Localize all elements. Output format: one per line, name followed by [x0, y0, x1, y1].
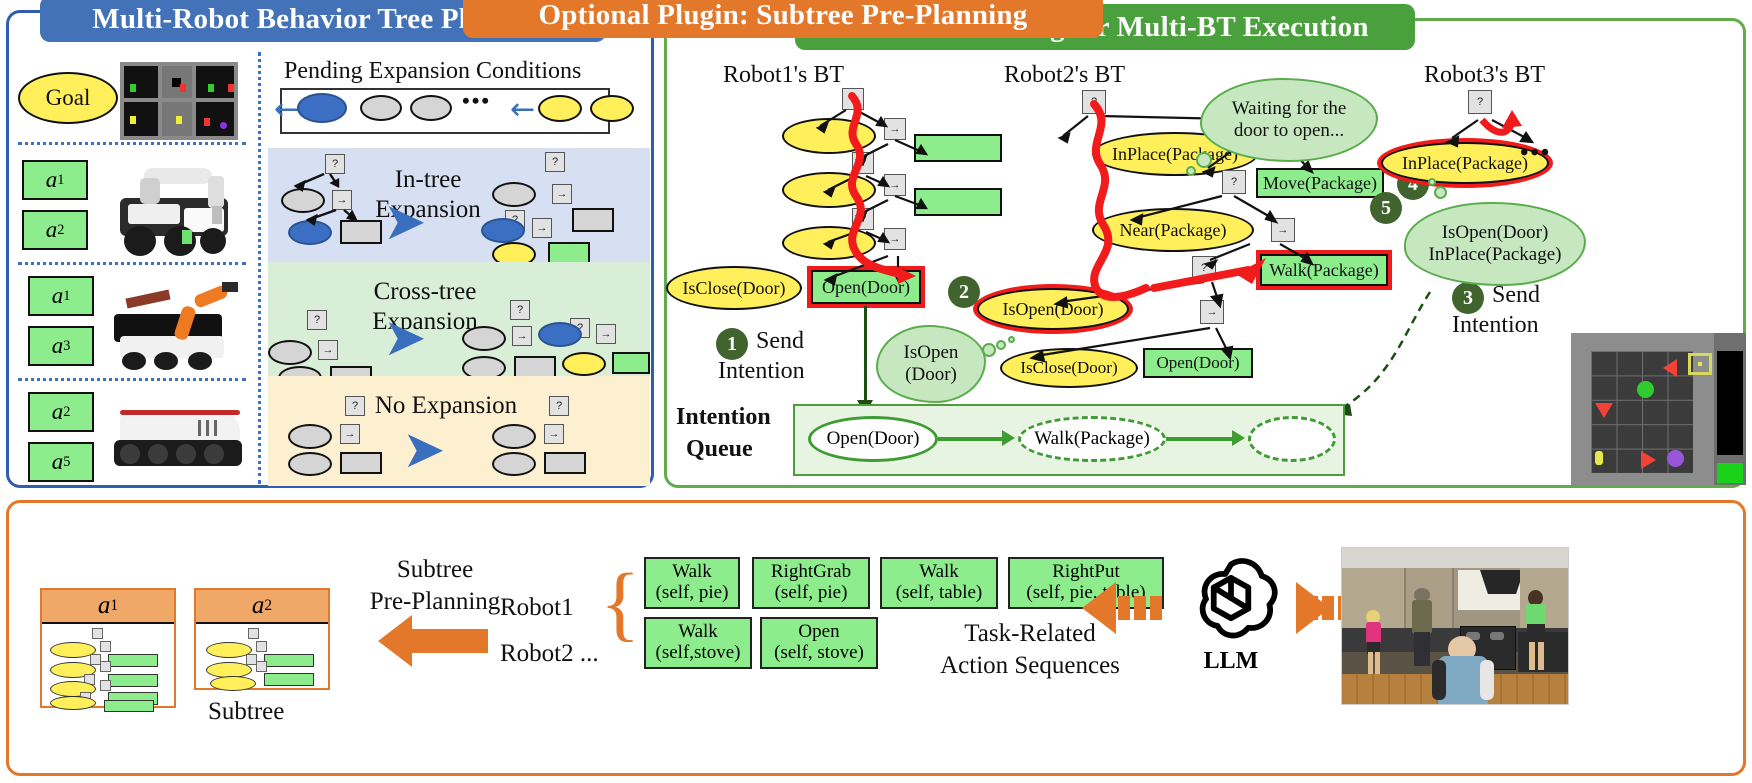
action-seq-line2: (self, pie)	[775, 583, 848, 604]
robot-photo-2	[104, 272, 246, 372]
bt-node-sequence: →	[340, 424, 360, 444]
transform-arrow-in-tree-icon: ➤	[383, 196, 427, 248]
subtree-caption: Subtree	[208, 698, 284, 726]
intention-queue-label-line2: Queue	[686, 436, 753, 463]
bt-node-sequence: →	[512, 326, 532, 346]
action-seq-line2: (self, table)	[896, 583, 983, 604]
action-label: a	[52, 333, 64, 359]
preplanning-arrowhead-icon	[378, 615, 412, 667]
bt-node-action	[514, 356, 556, 378]
bt-node-action	[544, 452, 586, 474]
action-label: a	[46, 167, 58, 193]
robot-photo-1	[104, 152, 246, 256]
robot2-condition-near: Near(Package)	[1092, 208, 1254, 252]
queue-connector-2	[1166, 437, 1234, 441]
action-label: a	[46, 217, 58, 243]
task-related-label-line2: Action Sequences	[884, 652, 1176, 680]
step-badge-2: 2	[948, 276, 980, 308]
bt-node-new-action	[612, 352, 650, 374]
step-badge-5: 5	[1370, 192, 1402, 224]
robot2-condition-isclose: IsClose(Door)	[1000, 348, 1138, 388]
bt-node-condition	[288, 452, 332, 476]
cloud-puff-icon	[996, 340, 1006, 350]
robot-photo-3	[104, 392, 246, 482]
gridworld-simulation	[1571, 333, 1746, 485]
subtree-title-sub: 1	[110, 597, 118, 615]
action-seq-line1: RightPut	[1052, 562, 1120, 583]
llm-output-shaft-2	[1134, 596, 1146, 620]
bt-node-sequence: →	[884, 118, 906, 140]
action-box-r3-a5: a5	[28, 442, 94, 482]
cloud-line-1: IsOpen	[904, 342, 959, 364]
bt-node-condition	[492, 182, 536, 207]
bt-node-action	[340, 452, 382, 474]
action-seq-5: Walk (self,stove)	[644, 617, 752, 669]
cloud-puff-icon	[982, 343, 996, 357]
bt-node-condition	[462, 326, 506, 351]
divider-robot-3	[18, 378, 246, 381]
pending-cond-active	[297, 93, 347, 123]
action-box-r1-a2: a2	[22, 210, 88, 250]
action-seq-2: RightGrab (self, pie)	[752, 557, 870, 609]
queue-item-1: Walk(Package)	[1018, 416, 1166, 462]
action-seq-line1: Walk	[678, 622, 718, 643]
subtree-card-a2-title: a2	[196, 590, 328, 624]
robot1-condition-3	[782, 226, 876, 260]
action-seq-line1: RightGrab	[771, 562, 851, 583]
step-1-arrow-line	[864, 306, 867, 406]
action-seq-line1: Open	[798, 622, 839, 643]
action-box-r3-a2: a2	[28, 392, 94, 432]
action-seq-line1: Walk	[672, 562, 712, 583]
bt-node-sequence: →	[884, 174, 906, 196]
cloud-puff-icon	[1196, 152, 1212, 168]
action-sub: 5	[63, 454, 70, 471]
robot-brace: {	[600, 562, 640, 646]
bt-node-fallback: ?	[545, 152, 565, 172]
goal-node: Goal	[18, 72, 118, 124]
robot3-thought-cloud: IsOpen(Door) InPlace(Package)	[1404, 202, 1586, 286]
divider-robot-2	[18, 262, 246, 265]
bt-edges-in-tree-left	[268, 148, 398, 262]
bt-node-new-action	[548, 242, 590, 264]
robot2-thought-cloud: Waiting for the door to open...	[1200, 78, 1378, 162]
bt-node-condition	[268, 340, 312, 365]
bt-node-fallback: ?	[1082, 90, 1106, 114]
action-label: a	[52, 449, 64, 475]
robot2-action-walk: Walk(Package)	[1260, 254, 1388, 286]
queue-connector-1	[938, 437, 1004, 441]
robot2-action-move: Move(Package)	[1256, 168, 1384, 198]
subtree-a1-tree	[42, 624, 174, 710]
pending-ellipsis: •••	[462, 88, 491, 114]
cloud-line-2: door to open...	[1234, 120, 1344, 142]
llm-output-shaft-3	[1150, 596, 1162, 620]
task-related-label-line1: Task-Related	[896, 620, 1164, 648]
robot1-action-open-door: Open(Door)	[811, 270, 921, 304]
action-seq-line1: Walk	[919, 562, 959, 583]
llm-output-shaft-1	[1118, 596, 1130, 620]
llm-output-arrowhead-icon	[1082, 582, 1116, 634]
subtree-card-a1: a1	[40, 588, 176, 708]
action-box-r2-a1: a1	[28, 276, 94, 316]
action-sub: 2	[57, 222, 64, 239]
robot1-thought-cloud: IsOpen (Door)	[876, 325, 986, 403]
action-seq-6: Open (self, stove)	[760, 617, 878, 669]
pending-cond-1	[360, 95, 402, 121]
cloud-line-1: IsOpen(Door)	[1442, 222, 1549, 244]
robot2-action-open: Open(Door)	[1143, 348, 1253, 378]
robot1-bt-title: Robot1's BT	[723, 62, 844, 89]
bt-node-fallback: ?	[549, 396, 569, 416]
virtualhome-kitchen-scene	[1341, 547, 1569, 705]
bt-node-sequence: →	[532, 218, 552, 238]
bt-node-fallback: ?	[307, 310, 327, 330]
action-sub: 2	[63, 404, 70, 421]
robot3-bt-title: Robot3's BT	[1424, 62, 1545, 89]
queue-item-0: Open(Door)	[808, 416, 938, 462]
subtree-title-base: a	[98, 592, 111, 620]
queue-item-2	[1248, 416, 1336, 462]
action-seq-1: Walk (self, pie)	[644, 557, 740, 609]
plugin-robot2-label: Robot2 ...	[500, 640, 599, 668]
llm-label: LLM	[1183, 648, 1279, 675]
label-no-expansion: No Expansion	[348, 392, 544, 420]
action-sub: 3	[63, 338, 70, 355]
cloud-puff-icon	[1428, 178, 1436, 186]
bt-node-fallback: ?	[345, 396, 365, 416]
bt-node-fallback: ?	[852, 208, 874, 230]
action-sub: 1	[63, 288, 70, 305]
bt-node-new-condition	[562, 352, 606, 376]
llm-input-shaft-1	[1306, 596, 1318, 620]
robot3-ellipsis: •••	[1520, 140, 1551, 167]
bt-node-fallback: ?	[510, 300, 530, 320]
cloud-line-1: Waiting for the	[1232, 98, 1347, 120]
bt-node-fallback: ?	[852, 152, 874, 174]
action-box-r2-a3: a3	[28, 326, 94, 366]
gridworld-minimap	[120, 62, 238, 140]
plugin-robot1-label: Robot1	[500, 594, 574, 622]
queue-out-arrow-icon: ←	[274, 95, 299, 125]
action-label: a	[52, 399, 64, 425]
action-seq-line2: (self,stove)	[656, 643, 741, 664]
action-seq-3: Walk (self, table)	[880, 557, 998, 609]
bt-node-action	[572, 208, 614, 232]
bt-node-fallback: ?	[1192, 256, 1216, 280]
step-badge-1: 1	[716, 328, 748, 360]
action-seq-line2: (self, stove)	[774, 643, 864, 664]
step-3-label-line1: Send	[1492, 282, 1540, 309]
transform-arrow-no-expansion-icon: ➤	[402, 424, 446, 476]
vertical-divider-planning	[258, 52, 261, 484]
bt-node-fallback: ?	[1468, 90, 1492, 114]
bt-node-expanded-condition	[481, 218, 525, 243]
robot2-bt-title: Robot2's BT	[1004, 62, 1125, 89]
subtree-title-base: a	[252, 592, 265, 620]
pending-cond-new-1	[538, 95, 582, 122]
step-3-label-line2: Intention	[1452, 312, 1539, 339]
action-label: a	[52, 283, 64, 309]
action-box-r1-a1: a1	[22, 160, 88, 200]
cloud-puff-icon	[1186, 166, 1196, 176]
pending-cond-2	[410, 95, 452, 121]
robot1-condition-1	[782, 118, 876, 154]
cloud-puff-icon	[1434, 186, 1447, 199]
bt-node-expanded-condition	[538, 322, 582, 347]
queue-arrowhead-2-icon	[1232, 430, 1245, 446]
queue-in-arrow-icon: ←	[510, 95, 535, 125]
subtree-preplanning-label-line1: Subtree	[342, 556, 528, 584]
subtree-card-a1-title: a1	[42, 590, 174, 624]
cloud-line-2: InPlace(Package)	[1429, 244, 1562, 266]
transform-arrow-cross-tree-icon: ➤	[383, 312, 427, 364]
step-1-label-line2: Intention	[718, 358, 805, 385]
bt-node-condition	[492, 424, 536, 449]
action-sub: 1	[57, 172, 64, 189]
bt-node-sequence: →	[318, 340, 338, 360]
intention-queue-label-line1: Intention	[676, 404, 771, 431]
action-seq-line2: (self, pie)	[656, 583, 729, 604]
subtree-title-sub: 2	[264, 597, 272, 615]
label-cross-tree-line1: Cross-tree	[330, 278, 520, 306]
preplanning-arrow-shaft	[412, 629, 488, 653]
step-1-label-line1: Send	[756, 328, 804, 355]
pending-cond-new-2	[590, 95, 634, 122]
bt-node-fallback: ?	[842, 88, 864, 110]
bt-node-sequence: →	[544, 424, 564, 444]
robot1-condition-isclose: IsClose(Door)	[666, 266, 802, 310]
subtree-a2-tree	[196, 624, 328, 692]
panel-title-plugin: Optional Plugin: Subtree Pre-Planning	[463, 0, 1103, 38]
queue-arrowhead-1-icon	[1002, 430, 1015, 446]
divider-robot-1	[18, 142, 246, 145]
cloud-puff-icon	[1008, 336, 1015, 343]
bt-node-sequence: →	[1200, 300, 1224, 324]
bt-node-fallback: ?	[1222, 170, 1246, 194]
step-badge-3: 3	[1452, 282, 1484, 314]
robot1-action-2	[914, 188, 1002, 216]
bt-node-sequence: →	[884, 228, 906, 250]
llm-logo-icon	[1183, 551, 1279, 647]
subtree-card-a2: a2	[194, 588, 330, 690]
llm-input-shaft-2	[1322, 596, 1334, 620]
bt-node-sequence: →	[552, 184, 572, 204]
bt-node-condition	[288, 424, 332, 449]
cloud-line-2: (Door)	[905, 364, 957, 386]
pending-expansion-title: Pending Expansion Conditions	[284, 58, 581, 85]
bt-node-sequence: →	[596, 324, 616, 344]
robot1-condition-2	[782, 172, 876, 208]
bt-node-condition	[492, 452, 536, 476]
robot2-condition-isopen: IsOpen(Door)	[977, 288, 1129, 330]
robot1-action-1	[914, 134, 1002, 162]
bt-node-sequence: →	[1271, 218, 1295, 242]
